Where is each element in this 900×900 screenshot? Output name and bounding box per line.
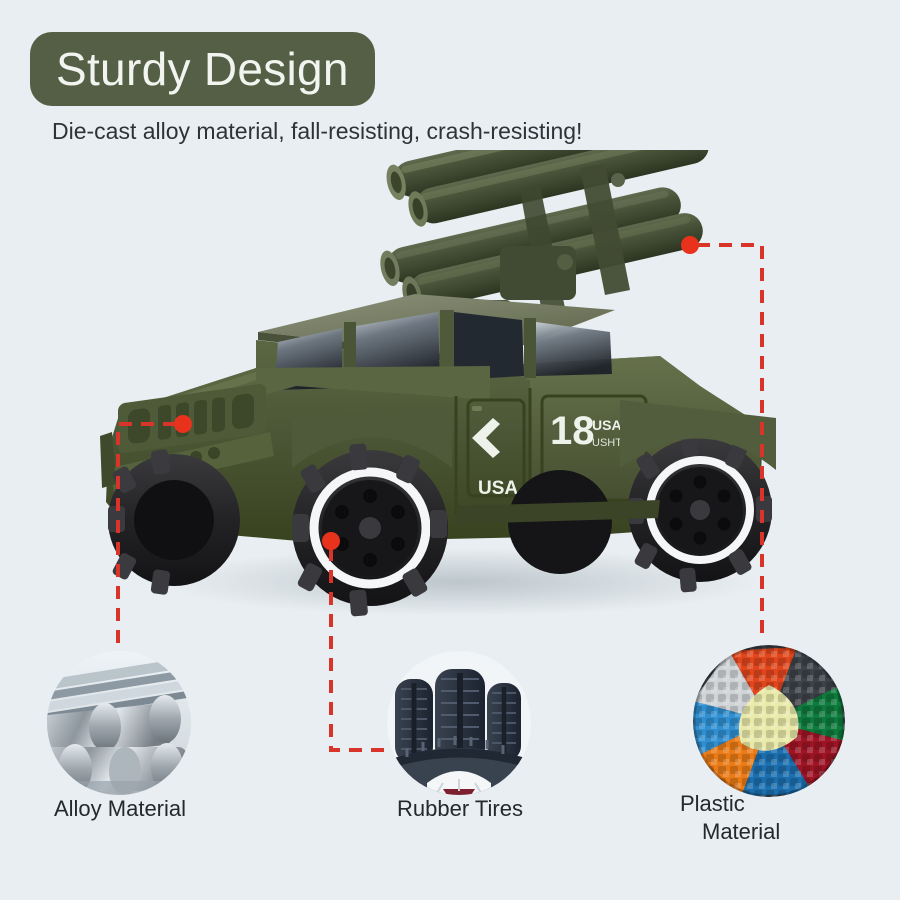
svg-text:USA: USA [592,417,622,433]
subtitle-text: Die-cast alloy material, fall-resisting,… [52,118,582,145]
material-caption-tire: Rubber Tires [350,795,570,823]
page-title: Sturdy Design [56,46,349,92]
humvee-vector: USA 18 USA USHTRI [60,150,850,630]
material-caption-alloy: Alloy Material [10,795,230,823]
section-title-badge: Sturdy Design [30,32,375,106]
material-caption-plastic-line1: Plastic [680,791,745,816]
svg-text:USA: USA [478,478,518,499]
svg-text:18: 18 [550,409,595,453]
material-swatch-plastic[interactable] [693,645,845,797]
product-image-humvee: USA 18 USA USHTRI [60,150,850,630]
infographic-canvas: Sturdy Design Die-cast alloy material, f… [0,0,900,900]
material-caption-plastic: Plastic Material [680,790,860,845]
material-swatch-alloy[interactable] [47,651,191,795]
material-swatch-tire[interactable] [387,651,531,795]
material-caption-plastic-line2: Material [680,818,860,846]
